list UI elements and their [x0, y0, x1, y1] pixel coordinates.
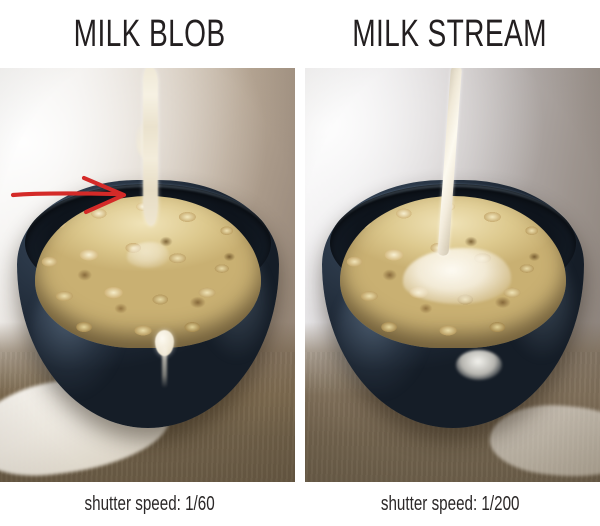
- panel-title-milk-stream: MILK STREAM: [353, 15, 548, 53]
- milk-blob-column: [143, 68, 158, 226]
- title-cell-left: MILK BLOB: [0, 0, 300, 68]
- caption-cell-right: shutter speed: 1/200: [300, 482, 600, 526]
- photo-milk-stream: [305, 68, 600, 482]
- cereal-heap: [340, 196, 566, 348]
- infographic-root: MILK BLOB MILK STREAM: [0, 0, 600, 526]
- caption-shutter-speed-left: shutter speed: 1/60: [85, 494, 215, 514]
- photo-panel-milk-stream: [305, 68, 600, 482]
- titles-row: MILK BLOB MILK STREAM: [0, 0, 600, 68]
- photo-panel-milk-blob: [0, 68, 295, 482]
- photo-milk-blob: [0, 68, 295, 482]
- panel-title-milk-blob: MILK BLOB: [74, 15, 226, 53]
- milk-pool: [127, 242, 169, 268]
- captions-row: shutter speed: 1/60 shutter speed: 1/200: [0, 482, 600, 526]
- milk-splash: [456, 350, 502, 380]
- panels-row: [0, 68, 600, 482]
- caption-cell-left: shutter speed: 1/60: [0, 482, 300, 526]
- cereal-bowl: [322, 180, 584, 428]
- caption-shutter-speed-right: shutter speed: 1/200: [381, 494, 520, 514]
- milk-thread: [162, 346, 167, 388]
- panel-gutter: [295, 68, 305, 482]
- title-cell-right: MILK STREAM: [300, 0, 600, 68]
